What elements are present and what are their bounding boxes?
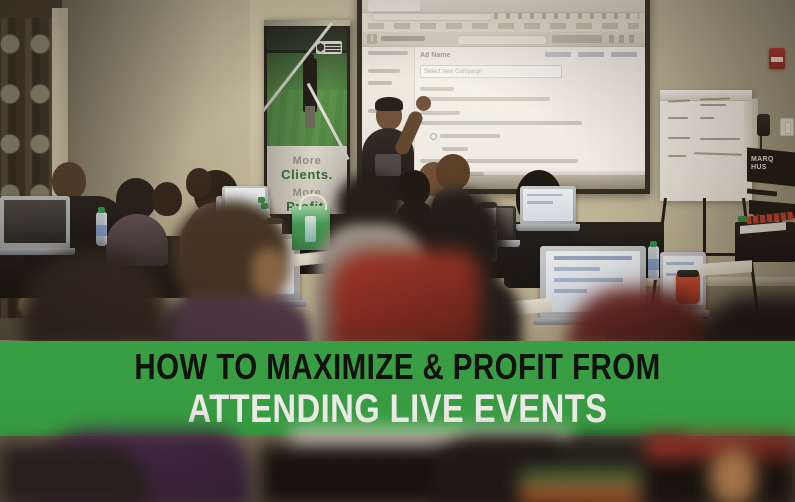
screenshot-root: f Ad Name Select new Campaign bbox=[0, 0, 795, 502]
title-banner: How to Maximize & Profit From Attending … bbox=[0, 341, 795, 436]
chair-back-foreground bbox=[0, 444, 150, 502]
title-line-1: How to Maximize & Profit From bbox=[72, 347, 724, 387]
title-line-2: Attending Live Events bbox=[72, 387, 724, 431]
attendee-arm-foreground bbox=[700, 448, 790, 502]
laptop-foreground bbox=[520, 470, 640, 502]
